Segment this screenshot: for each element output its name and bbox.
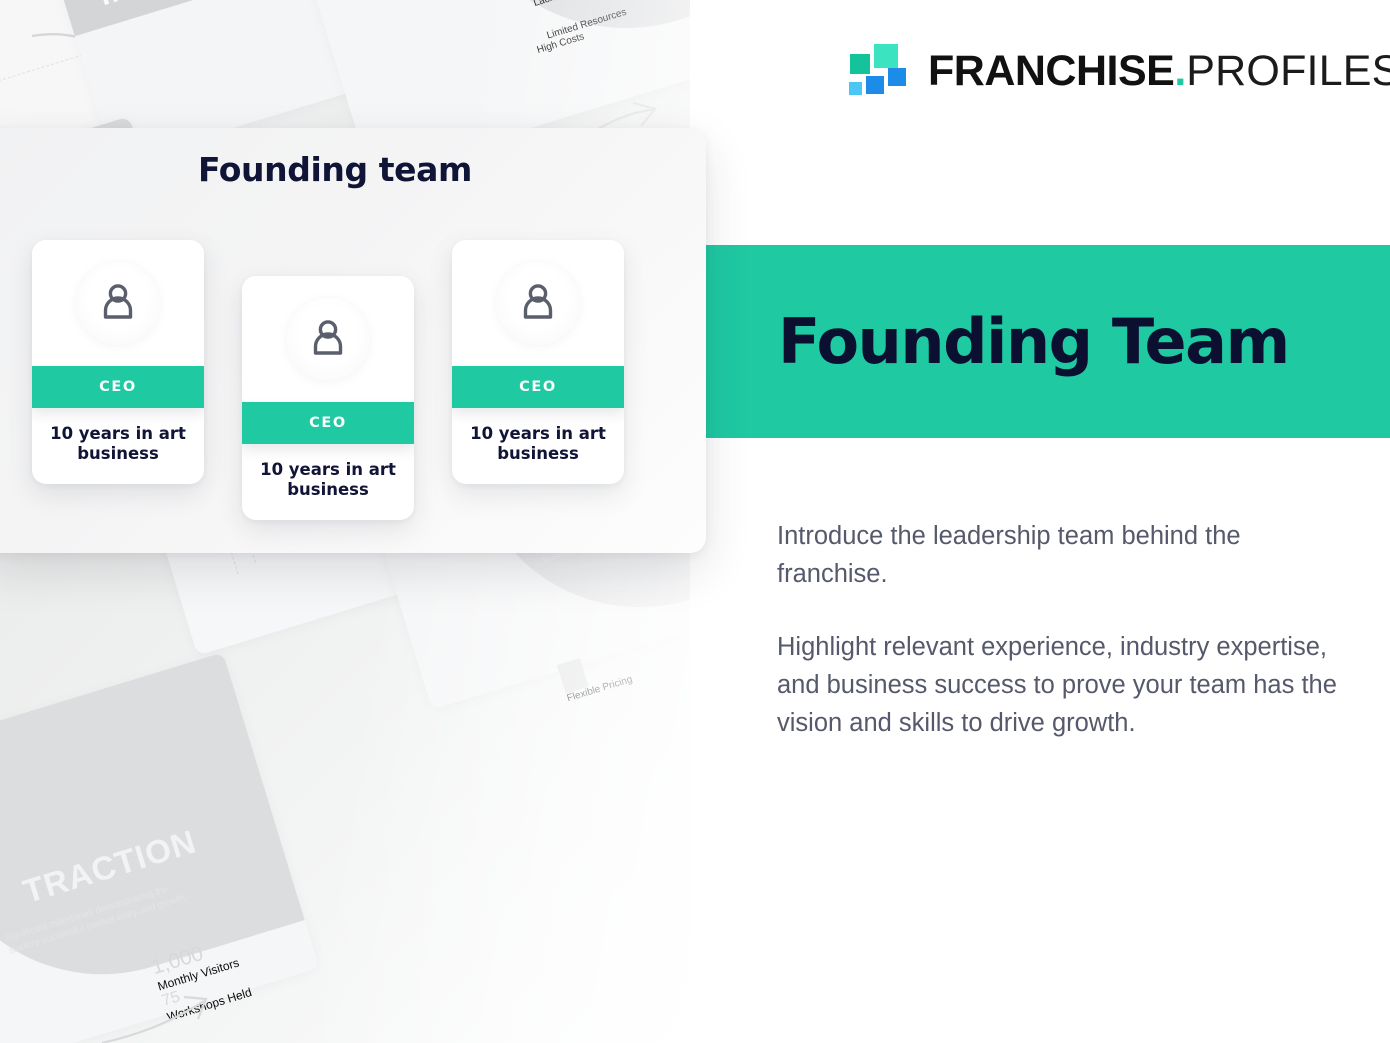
brand-wordmark: FRANCHISE.PROFILES bbox=[928, 50, 1390, 93]
avatar bbox=[452, 240, 624, 366]
section-title-banner: Founding Team bbox=[705, 245, 1390, 438]
preview-slide-title: Founding team bbox=[0, 150, 688, 189]
brand-name-dot: . bbox=[1174, 50, 1186, 93]
avatar bbox=[32, 240, 204, 366]
slide-canvas: MARKET Art spaces in urban and suburban … bbox=[0, 0, 1390, 1043]
person-role-badge: CEO bbox=[242, 402, 414, 444]
bg-slide-subtitle: Art spaces in urban and suburban areas i… bbox=[0, 0, 4, 68]
person-bio: 10 years in art business bbox=[32, 408, 204, 484]
person-icon bbox=[94, 279, 142, 327]
person-role-badge: CEO bbox=[452, 366, 624, 408]
right-content-pane: FRANCHISE.PROFILES Founding Team Introdu… bbox=[690, 0, 1390, 1043]
logo-square-sky-light bbox=[849, 82, 862, 95]
person-bio: 10 years in art business bbox=[452, 408, 624, 484]
section-description: Introduce the leadership team behind the… bbox=[777, 518, 1347, 743]
logo-square-blue-mid bbox=[866, 76, 884, 94]
person-card[interactable]: CEO 10 years in art business bbox=[242, 276, 414, 520]
person-card[interactable]: CEO 10 years in art business bbox=[32, 240, 204, 484]
person-card[interactable]: CEO 10 years in art business bbox=[452, 240, 624, 484]
page-title: Founding Team bbox=[778, 305, 1289, 378]
person-bio: 10 years in art business bbox=[242, 444, 414, 520]
founding-team-preview-panel: Founding team CEO 10 years in art busine… bbox=[0, 128, 706, 553]
logo-square-blue-bright bbox=[888, 68, 906, 86]
description-paragraph: Introduce the leadership team behind the… bbox=[777, 518, 1347, 593]
person-role-badge: CEO bbox=[32, 366, 204, 408]
logo-square-mint-light bbox=[874, 44, 898, 68]
logo-square-teal-dark bbox=[850, 54, 870, 74]
logo-mark-icon bbox=[848, 40, 910, 102]
description-paragraph: Highlight relevant experience, industry … bbox=[777, 629, 1347, 742]
brand-logo: FRANCHISE.PROFILES bbox=[848, 40, 1390, 102]
brand-name-bold: FRANCHISE bbox=[928, 50, 1174, 93]
person-icon bbox=[304, 315, 352, 363]
founding-team-cards: CEO 10 years in art business CEO 10 year… bbox=[0, 218, 688, 518]
person-icon bbox=[514, 279, 562, 327]
brand-name-light: PROFILES bbox=[1186, 50, 1390, 93]
arrow-icon bbox=[96, 985, 216, 1043]
avatar bbox=[242, 276, 414, 402]
